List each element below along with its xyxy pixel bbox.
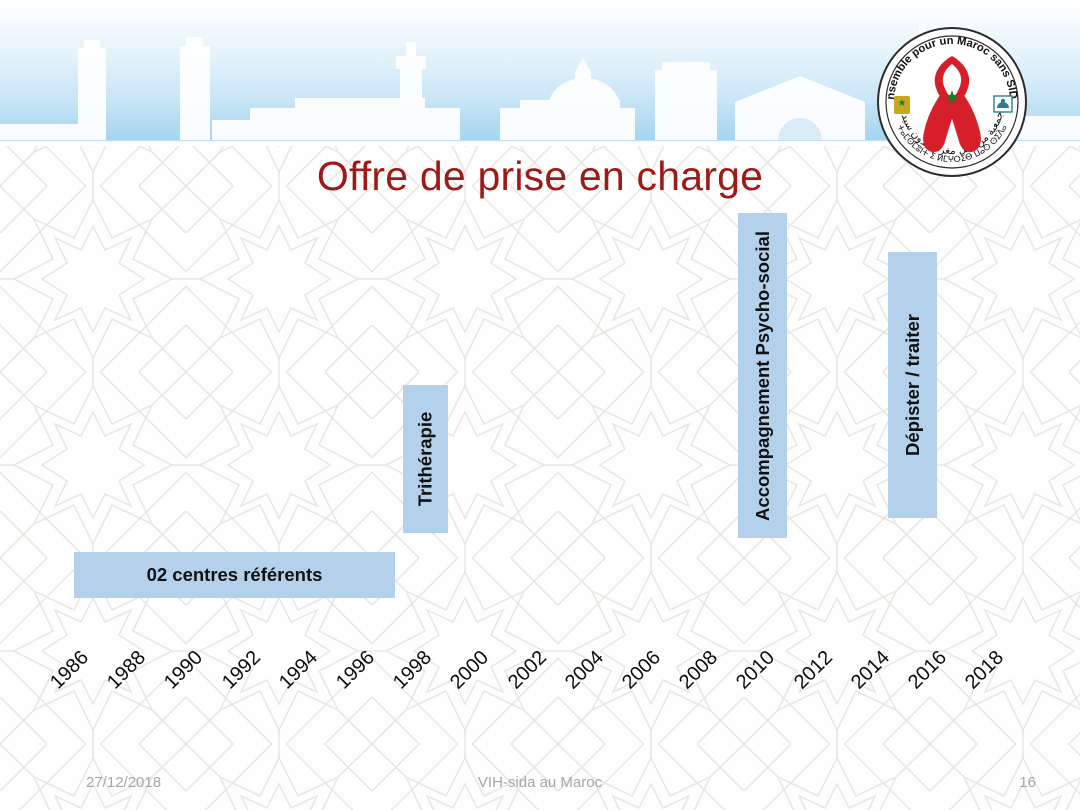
x-axis-tick-1994: 1994 [275,647,323,695]
bar-label-tritherapie: Trithérapie [415,412,437,507]
partner-emblem-icon [994,96,1012,112]
bar-centres-referents: 02 centres référents [74,552,395,598]
x-axis-tick-2000: 2000 [446,647,494,695]
x-axis-tick-2012: 2012 [790,647,838,695]
x-axis-tick-1996: 1996 [332,647,380,695]
x-axis-tick-2002: 2002 [504,647,552,695]
footer-page-number: 16 [1019,774,1036,791]
bar-label-accompagnement-psycho-social: Accompagnement Psycho-social [752,231,774,521]
x-axis-tick-2014: 2014 [847,647,895,695]
bar-tritherapie: Trithérapie [403,385,448,533]
x-axis-tick-1986: 1986 [46,647,94,695]
x-axis-tick-1990: 1990 [160,647,208,695]
x-axis: 1986198819901992199419961998200020022004… [0,630,1080,740]
slide-footer: 27/12/2018 VIH-sida au Maroc 16 [0,770,1080,810]
x-axis-tick-2018: 2018 [961,647,1009,695]
x-axis-tick-1998: 1998 [389,647,437,695]
bar-label-depister-traiter: Dépister / traiter [902,314,924,456]
slide: Ensemble pour un Maroc sans SIDA جمعية م… [0,0,1080,810]
x-axis-tick-2016: 2016 [904,647,952,695]
x-axis-tick-2006: 2006 [618,647,666,695]
x-axis-tick-2004: 2004 [561,647,609,695]
footer-title: VIH-sida au Maroc [0,774,1080,791]
x-axis-tick-2008: 2008 [675,647,723,695]
x-axis-tick-1992: 1992 [218,647,266,695]
bar-label-centres-referents: 02 centres référents [147,564,323,586]
association-logo: Ensemble pour un Maroc sans SIDA جمعية م… [874,24,1030,180]
x-axis-tick-1988: 1988 [103,647,151,695]
bar-accompagnement-psycho-social: Accompagnement Psycho-social [738,213,787,538]
bar-depister-traiter: Dépister / traiter [888,252,937,518]
x-axis-tick-2010: 2010 [732,647,780,695]
morocco-coat-of-arms-icon [894,96,910,114]
